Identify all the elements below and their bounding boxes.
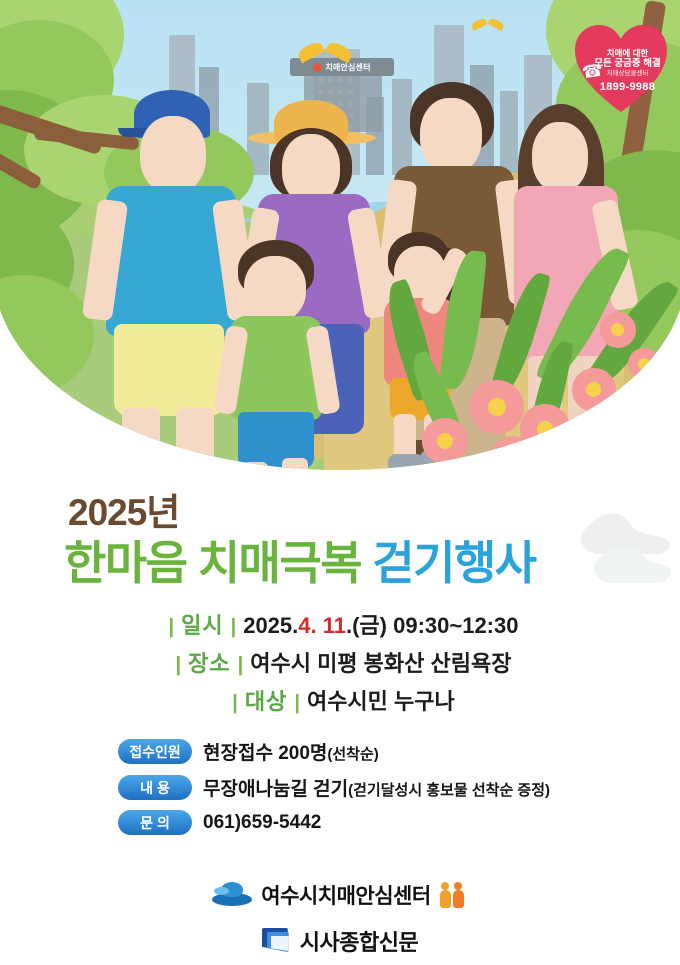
info-line-datetime: | 일시 | 2025. 4. 11 .(금) 09:30~12:30 <box>0 608 680 640</box>
pill-label-capacity: 접수인원 <box>118 739 192 764</box>
leg <box>122 408 160 470</box>
info-label-audience: 대상 <box>245 684 287 716</box>
detail-row-capacity: 접수인원 현장접수 200명(선착순) <box>118 738 550 765</box>
badge-line3: 치매상담콜센터 <box>607 70 649 77</box>
pill-label-content: 내 용 <box>118 775 192 800</box>
detail-text-capacity: 현장접수 200명(선착순) <box>203 738 379 765</box>
open-book-logo-icon <box>262 928 292 954</box>
divider-bar: | <box>294 692 300 715</box>
badge-line2: 모든 궁금증 해결 <box>594 59 660 70</box>
detail-text-contact: 061)659-5442 <box>203 812 321 834</box>
head <box>420 98 482 174</box>
leg <box>242 462 268 470</box>
center-banner-label: 치매안심센터 <box>325 62 370 73</box>
event-poster: 치매안심센터 <box>0 0 680 965</box>
badge-phone-number: 1899-9988 <box>600 81 655 93</box>
organization-name: 여수시치매안심센터 <box>261 880 430 910</box>
info-lines: | 일시 | 2025. 4. 11 .(금) 09:30~12:30 | 장소… <box>0 608 680 722</box>
leg <box>282 458 308 470</box>
info-value-date-post: .(금) 09:30~12:30 <box>346 608 519 640</box>
detail-rows: 접수인원 현장접수 200명(선착순) 내 용 무장애나눔길 걷기(걷기달성시 … <box>118 738 550 844</box>
press-name: 시사종합신문 <box>300 925 418 957</box>
info-value-audience: 여수시민 누구나 <box>307 684 455 716</box>
footer-press: 시사종합신문 <box>0 925 680 957</box>
info-line-place: | 장소 | 여수시 미평 봉화산 산림욕장 <box>0 646 680 678</box>
head <box>532 122 588 192</box>
sneaker-watermark-icon <box>576 505 672 591</box>
divider-bar: | <box>238 654 244 677</box>
title-green-part: 한마음 치매극복 <box>64 537 361 589</box>
head <box>244 256 306 322</box>
info-value-place: 여수시 미평 봉화산 산림욕장 <box>250 646 511 678</box>
page-title: 한마음 치매극복 걷기행사 <box>64 527 536 593</box>
water-wave-logo-icon <box>212 882 252 908</box>
divider-bar: | <box>232 692 238 715</box>
footer-organization: 여수시치매안심센터 <box>0 880 680 910</box>
detail-row-contact: 문 의 061)659-5442 <box>118 810 550 835</box>
divider-bar: | <box>176 654 182 677</box>
head <box>140 116 206 194</box>
info-label-place: 장소 <box>188 646 230 678</box>
info-value-date-pre: 2025. <box>243 613 298 639</box>
info-line-audience: | 대상 | 여수시민 누구나 <box>0 684 680 716</box>
person-boy <box>224 240 344 470</box>
two-people-logo-icon <box>440 882 468 908</box>
center-logo-dot <box>313 63 322 72</box>
pill-label-contact: 문 의 <box>118 810 192 835</box>
heart-badge[interactable]: ☎ 치매에 대한 모든 궁금증 해결 치매상담콜센터 1899-9988 <box>573 22 669 114</box>
info-value-date-highlight: 4. 11 <box>298 613 346 639</box>
flower-cluster <box>386 240 680 470</box>
title-blue-part: 걷기행사 <box>372 537 535 589</box>
shorts <box>114 324 224 416</box>
info-label-datetime: 일시 <box>181 608 223 640</box>
leg <box>176 408 214 470</box>
detail-text-content: 무장애나눔길 걷기(걷기달성시 홍보물 선착순 증정) <box>203 774 550 801</box>
divider-bar: | <box>169 616 175 639</box>
detail-row-content: 내 용 무장애나눔길 걷기(걷기달성시 홍보물 선착순 증정) <box>118 774 550 801</box>
illustration-hero: 치매안심센터 <box>0 0 680 470</box>
divider-bar: | <box>231 616 237 639</box>
